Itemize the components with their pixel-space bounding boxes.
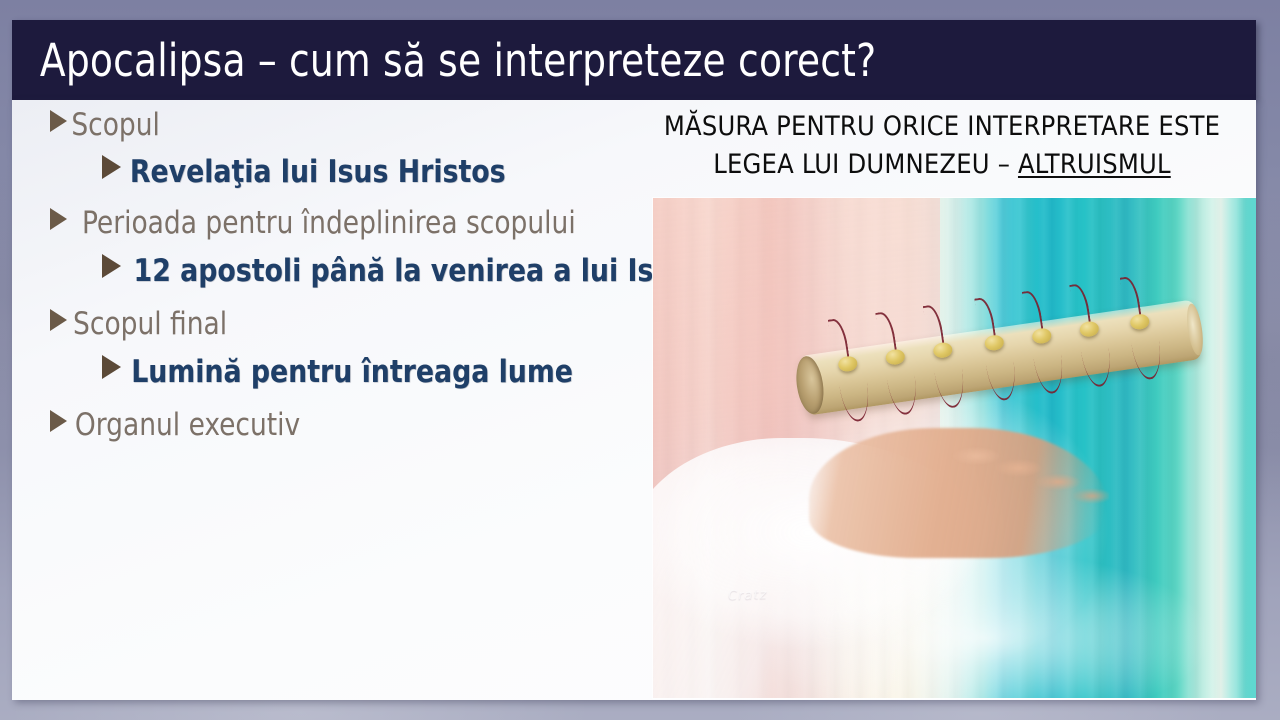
triangle-bullet-icon bbox=[102, 355, 121, 379]
triangle-bullet-icon bbox=[50, 309, 67, 331]
right-heading-line-2: LEGEA LUI DUMNEZEU – ALTRUISMUL bbox=[628, 146, 1256, 184]
list-item: 12 apostoli până la venirea a lui Isus bbox=[102, 256, 700, 287]
painting-fingers bbox=[946, 438, 1108, 518]
list-item-label: Organul executiv bbox=[75, 410, 300, 441]
triangle-bullet-icon bbox=[50, 410, 67, 432]
right-heading-emphasis: ALTRUISMUL bbox=[1018, 149, 1171, 180]
bullet-list: Scopul Revelaţia lui Isus Hristos Perioa… bbox=[36, 104, 636, 664]
scroll-painting-image: Cratz bbox=[653, 198, 1256, 698]
triangle-bullet-icon bbox=[50, 208, 67, 230]
page-title: Apocalipsa – cum să se interpreteze core… bbox=[12, 38, 876, 83]
list-item-label: Scopul bbox=[71, 110, 160, 141]
list-item-label: Scopul final bbox=[73, 309, 227, 340]
right-heading-line-1: MĂSURA PENTRU ORICE INTERPRETARE ESTE bbox=[628, 108, 1256, 146]
slide: Apocalipsa – cum să se interpreteze core… bbox=[0, 0, 1280, 720]
right-heading: MĂSURA PENTRU ORICE INTERPRETARE ESTE LE… bbox=[628, 108, 1256, 184]
list-item: Perioada pentru îndeplinirea scopului bbox=[50, 208, 589, 239]
triangle-bullet-icon bbox=[102, 155, 121, 179]
list-item-label: Lumină pentru întreaga lume bbox=[131, 357, 573, 388]
list-item: Organul executiv bbox=[50, 410, 306, 441]
slide-title-bar: Apocalipsa – cum să se interpreteze core… bbox=[12, 20, 1256, 100]
slide-content-panel: Scopul Revelaţia lui Isus Hristos Perioa… bbox=[12, 100, 1256, 700]
right-column: MĂSURA PENTRU ORICE INTERPRETARE ESTE LE… bbox=[628, 100, 1256, 700]
list-item-label: 12 apostoli până la venirea a lui Isus bbox=[134, 256, 689, 287]
artist-signature: Cratz bbox=[728, 587, 768, 603]
list-item: Scopul final bbox=[50, 309, 231, 340]
right-heading-line-2-prefix: LEGEA LUI DUMNEZEU – bbox=[713, 149, 1018, 180]
list-item: Revelaţia lui Isus Hristos bbox=[102, 157, 513, 188]
triangle-bullet-icon bbox=[50, 110, 67, 132]
list-item: Scopul bbox=[50, 110, 162, 141]
list-item-label: Revelaţia lui Isus Hristos bbox=[130, 157, 506, 188]
list-item: Lumină pentru întreaga lume bbox=[102, 357, 582, 388]
list-item-label: Perioada pentru îndeplinirea scopului bbox=[82, 208, 576, 239]
triangle-bullet-icon bbox=[102, 254, 121, 278]
